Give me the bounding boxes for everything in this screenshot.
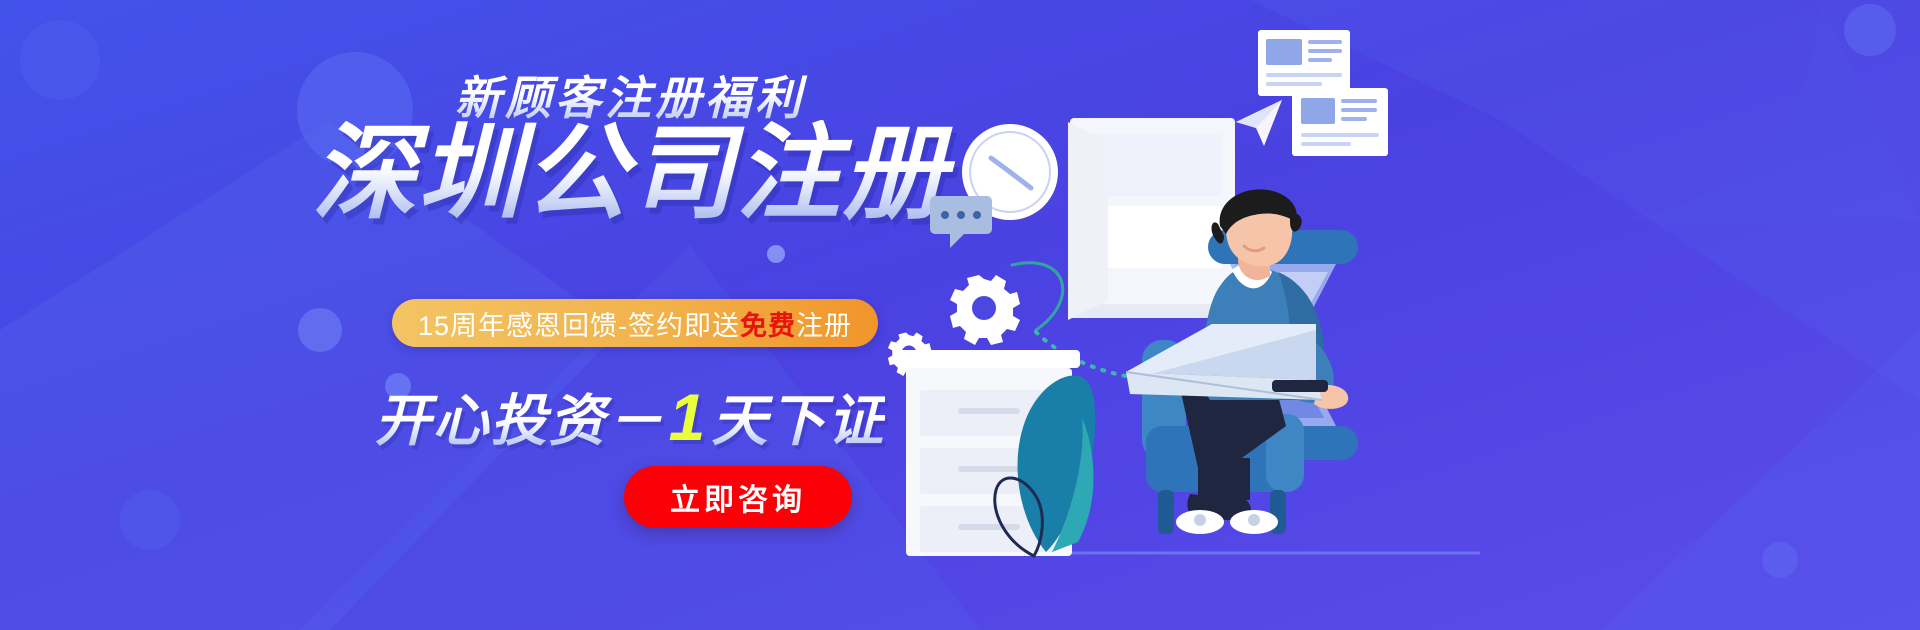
window-side-panel xyxy=(1068,122,1108,320)
tagline-after: 天下证 xyxy=(711,389,885,452)
paper-plane-icon xyxy=(1236,100,1282,146)
page-title: 深圳公司注册 xyxy=(300,120,960,229)
hero-illustration xyxy=(940,0,1500,630)
laptop-icon xyxy=(1126,324,1328,400)
promo-badge-prefix: 15周年感恩回馈-签约即送 xyxy=(418,311,740,341)
consult-now-button-label: 立即咨询 xyxy=(670,475,806,519)
speech-bubble-icon xyxy=(930,196,992,248)
promo-badge: 15周年感恩回馈-签约即送免费注册 xyxy=(392,299,878,347)
promo-badge-highlight: 免费 xyxy=(740,311,796,341)
tagline-before: 开心投资－ xyxy=(375,389,665,452)
promo-banner: 新顾客注册福利 深圳公司注册 15周年感恩回馈-签约即送免费注册 开心投资－1天… xyxy=(0,0,1920,630)
promo-badge-text: 15周年感恩回馈-签约即送免费注册 xyxy=(418,304,852,343)
tagline-number: 1 xyxy=(665,380,712,454)
tagline: 开心投资－1天下证 xyxy=(330,376,930,457)
gear-icon xyxy=(950,275,1020,345)
hero-illustration-svg xyxy=(940,0,1500,630)
promo-badge-suffix: 注册 xyxy=(796,311,852,341)
copy-block: 新顾客注册福利 深圳公司注册 15周年感恩回馈-签约即送免费注册 开心投资－1天… xyxy=(0,0,960,630)
document-icon xyxy=(1292,88,1388,156)
consult-now-button[interactable]: 立即咨询 xyxy=(624,466,852,528)
document-icon xyxy=(1258,30,1350,96)
